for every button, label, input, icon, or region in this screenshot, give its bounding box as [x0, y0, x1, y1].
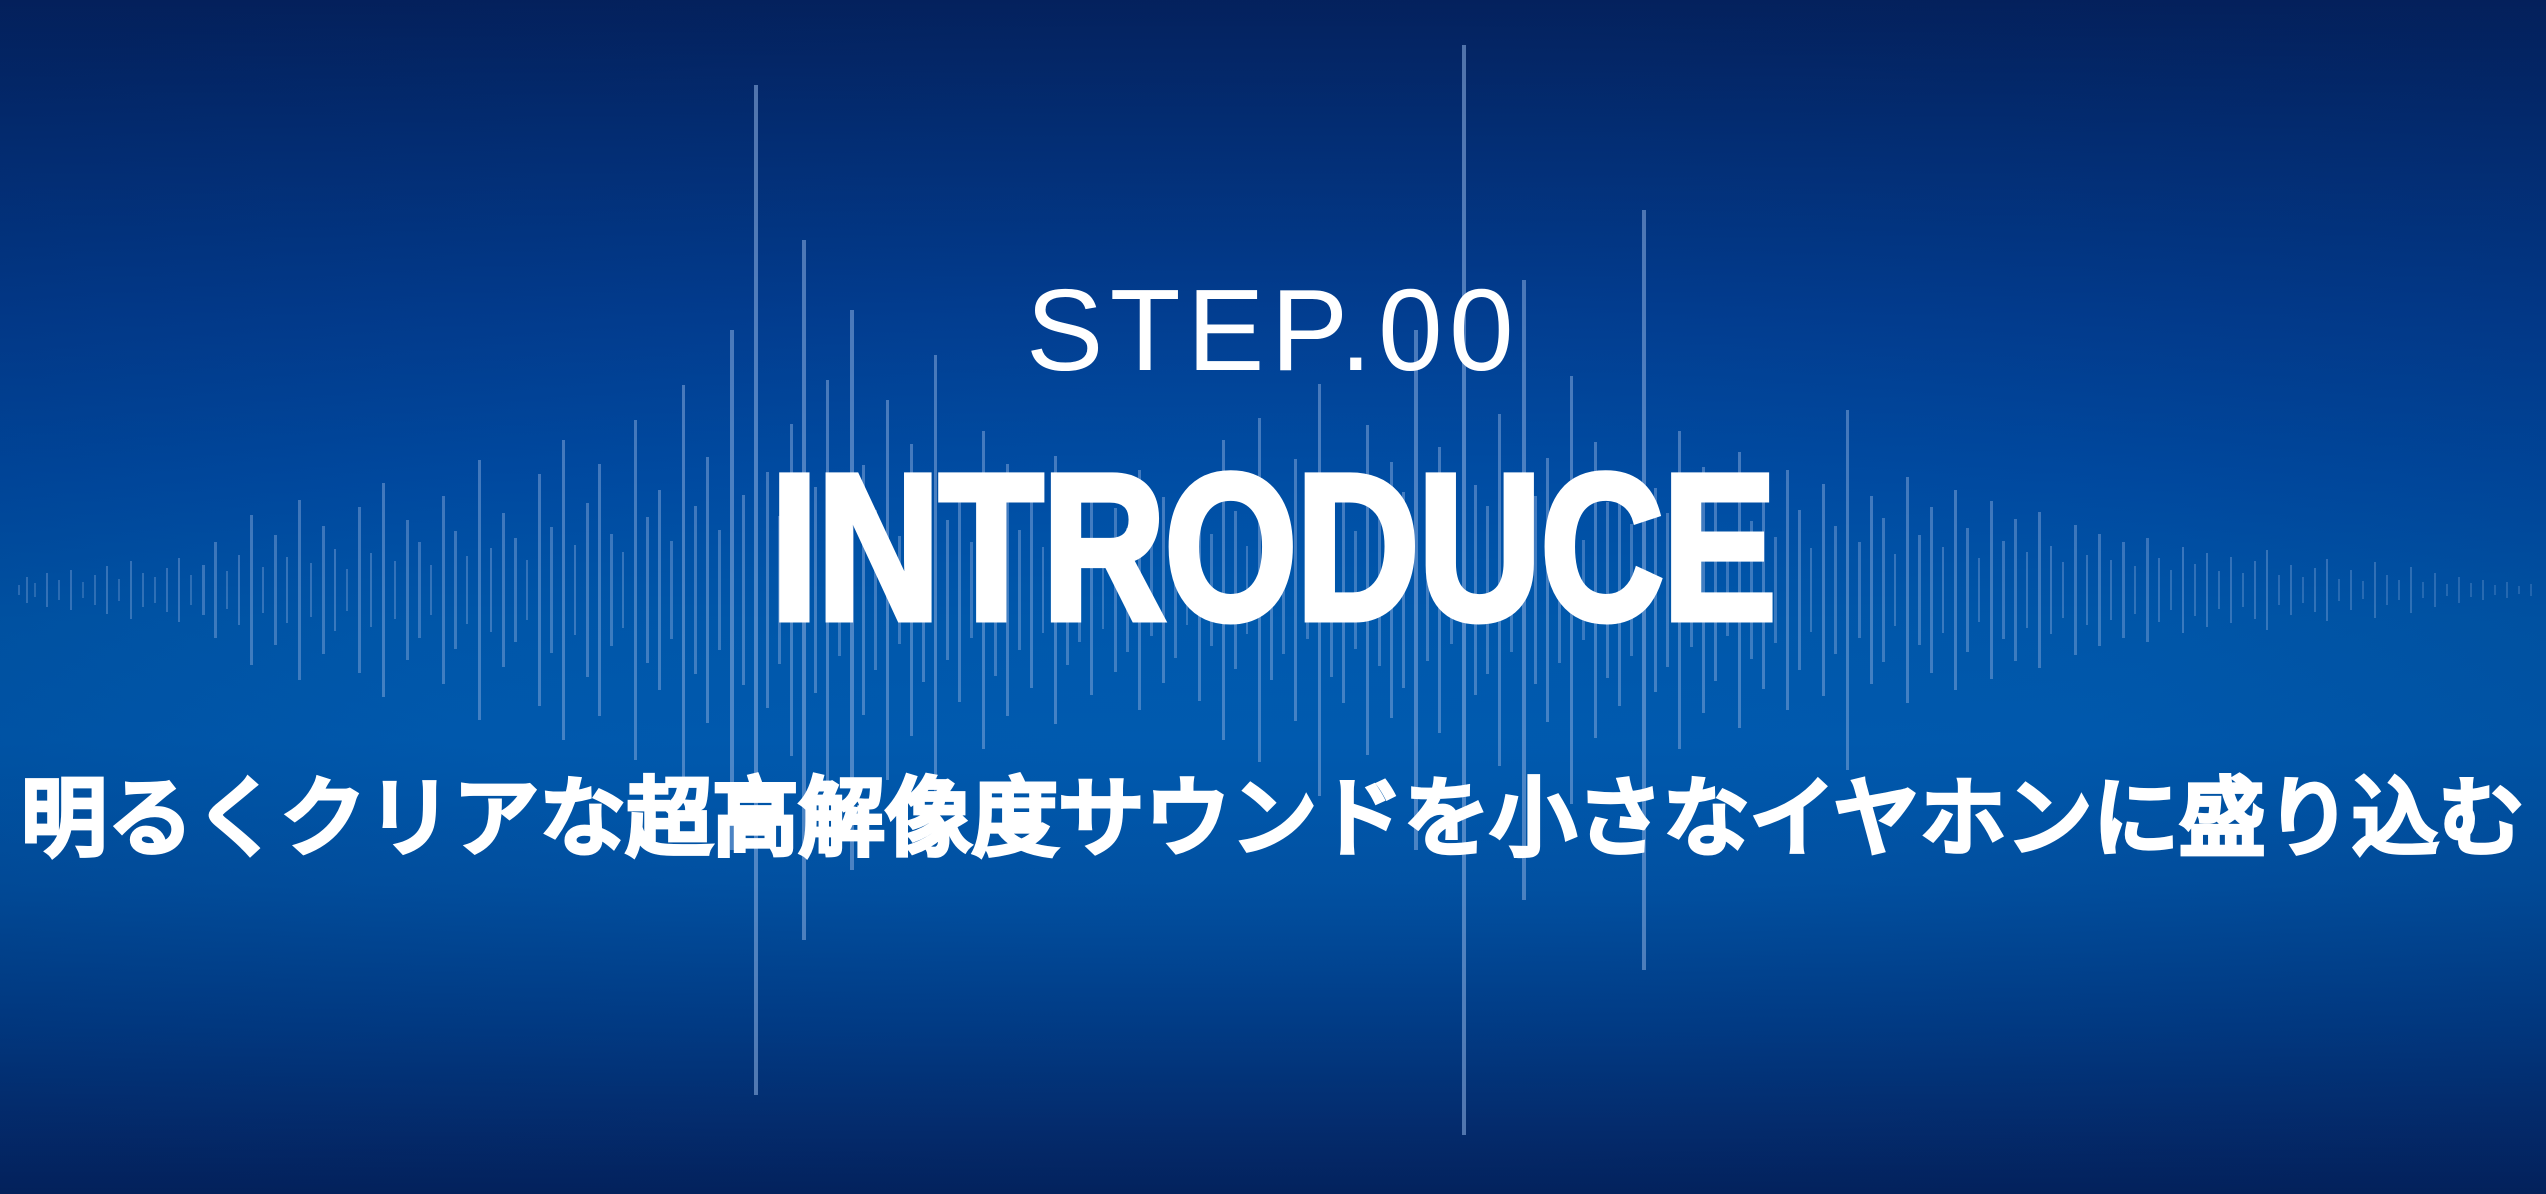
headline-introduce: INTRODUCE — [229, 444, 2317, 652]
slide-canvas: STEP.00 INTRODUCE 明るくクリアな超高解像度サウンドを小さなイヤ… — [0, 0, 2546, 1194]
title-block: STEP.00 INTRODUCE 明るくクリアな超高解像度サウンドを小さなイヤ… — [0, 0, 2546, 1194]
subtitle-japanese: 明るくクリアな超高解像度サウンドを小さなイヤホンに盛り込む — [0, 770, 2546, 869]
step-label: STEP.00 — [0, 272, 2546, 388]
